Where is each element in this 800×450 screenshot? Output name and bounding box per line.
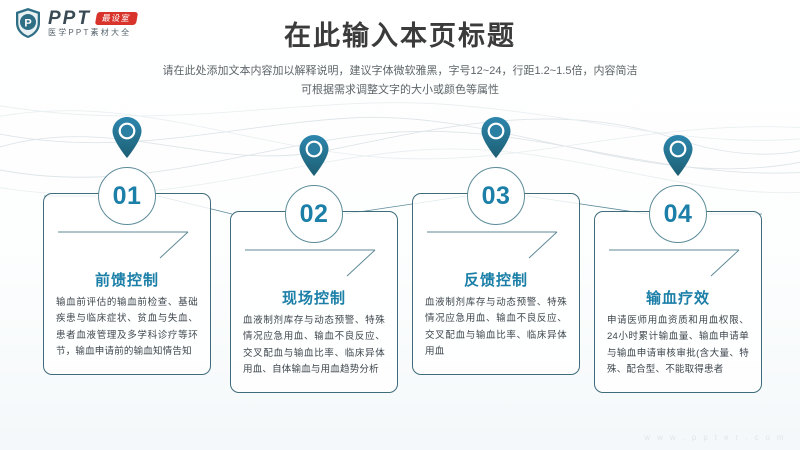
page-subtitle: 请在此处添加文本内容加以解释说明，建议字体微软雅黑，字号12~24，行距1.2~… (0, 62, 800, 101)
map-pin-icon (662, 134, 694, 178)
step-number-3: 03 (467, 167, 525, 225)
map-pin-icon (298, 134, 330, 178)
card-body: 申请医师用血资质和用血权限、24小时累计输血量、输血申请单与输血申请审核审批(含… (607, 313, 749, 392)
card-title: 反馈控制 (425, 269, 567, 290)
page-subtitle-line-1: 请在此处添加文本内容加以解释说明，建议字体微软雅黑，字号12~24，行距1.2~… (0, 62, 800, 81)
slide-canvas: P PPT 最设室 医学PPT素材大全 在此输入本页标题 请在此处添加文本内容加… (0, 0, 800, 450)
page-subtitle-line-2: 可根据需求调整文字的大小或颜色等属性 (0, 81, 800, 100)
site-watermark: w w w . p p t e r . c o m (644, 433, 786, 442)
arrow-accent-icon (425, 230, 569, 262)
card-title: 前馈控制 (56, 269, 198, 290)
step-number-4: 04 (649, 185, 707, 243)
arrow-accent-icon (56, 230, 200, 262)
card-body: 血液制剂库存与动态预警、特殊情况应急用血、输血不良反应、交叉配血与输血比率、临床… (425, 295, 567, 374)
step-number-2: 02 (285, 185, 343, 243)
map-pin-icon (111, 116, 143, 160)
arrow-accent-icon (243, 248, 387, 280)
card-title: 输血疗效 (607, 287, 749, 308)
card-body: 输血前评估的输血前检查、基础疾患与临床症状、贫血与失血、患者血液管理及多学科诊疗… (56, 295, 198, 374)
map-pin-icon (480, 116, 512, 160)
page-title: 在此输入本页标题 (0, 14, 800, 53)
card-body: 血液制剂库存与动态预警、特殊情况应急用血、输血不良反应、交叉配血与输血比率、临床… (243, 313, 385, 392)
step-number-1: 01 (98, 167, 156, 225)
card-title: 现场控制 (243, 287, 385, 308)
arrow-accent-icon (607, 248, 751, 280)
